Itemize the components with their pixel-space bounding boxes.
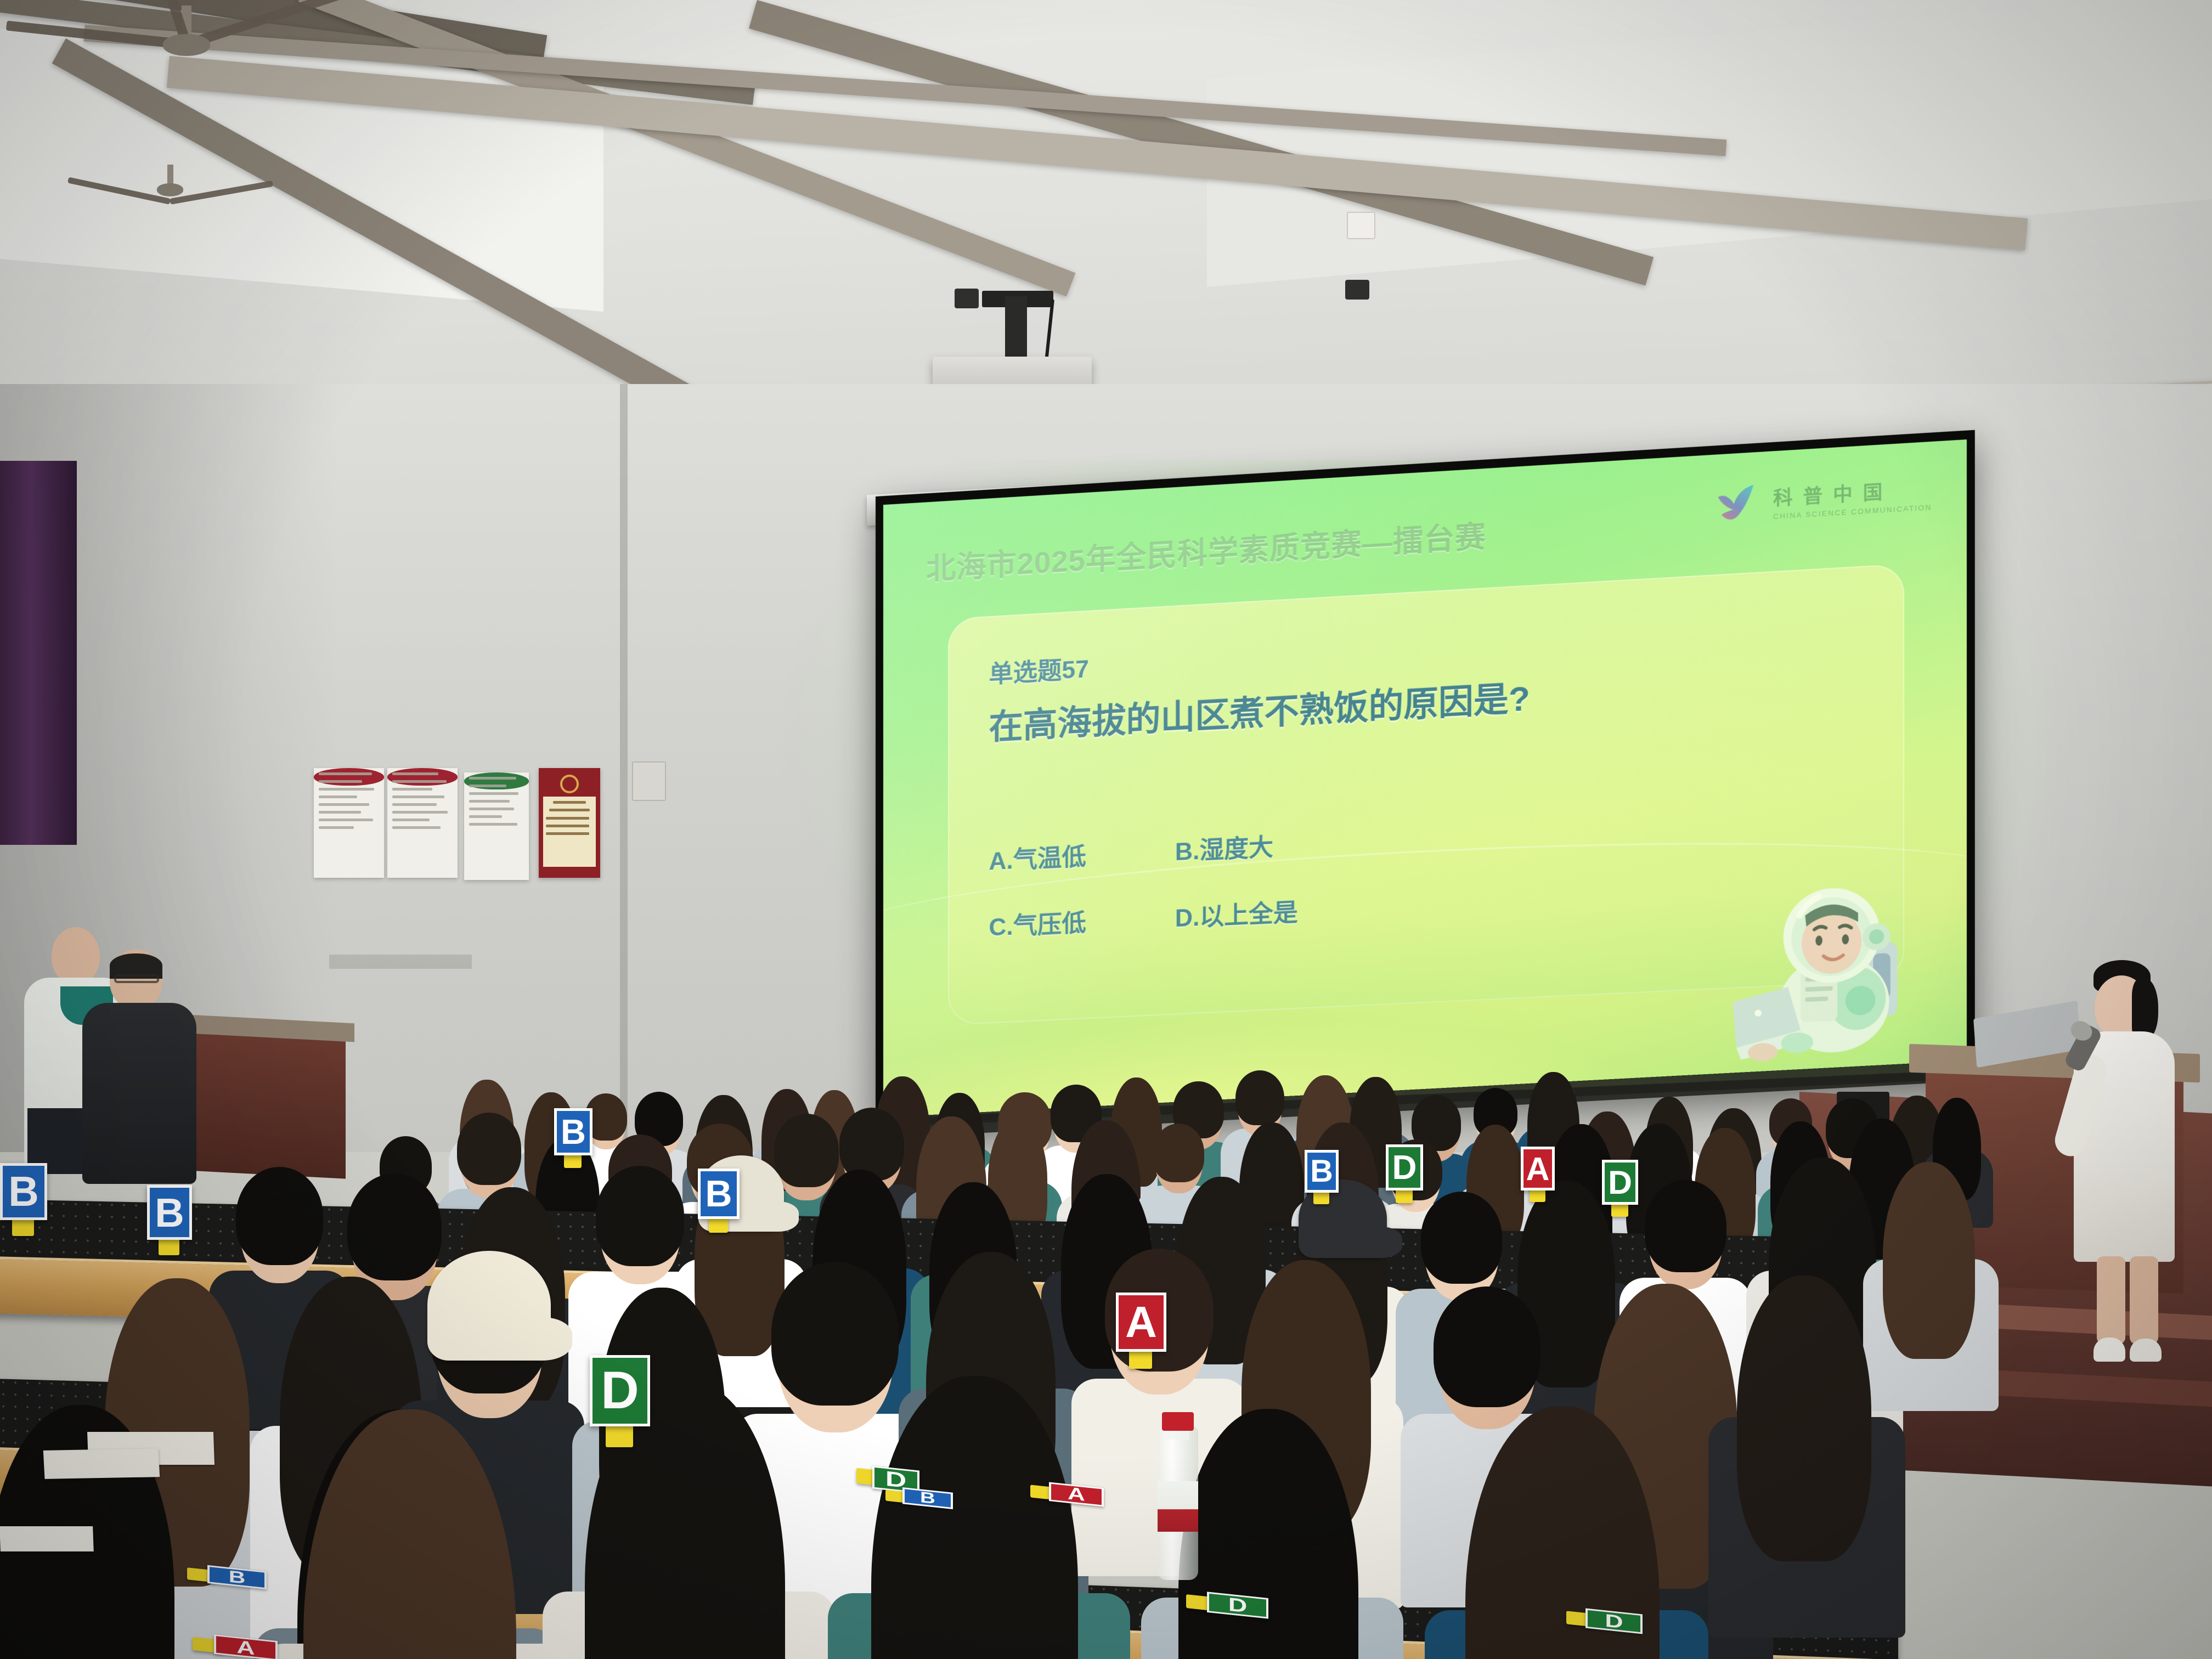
staff-person xyxy=(82,949,198,1180)
paper-sheet xyxy=(0,1526,94,1551)
kepu-bird-icon xyxy=(1716,483,1765,524)
host-shoe xyxy=(2093,1338,2125,1362)
host-shoe xyxy=(2130,1339,2162,1362)
person-hair xyxy=(771,1262,899,1406)
option-a: A.气温低 xyxy=(989,833,1155,877)
audience-member xyxy=(296,1426,532,1659)
answer-card-a[interactable]: A xyxy=(1116,1293,1166,1352)
poster-header xyxy=(314,768,384,786)
host-presenter xyxy=(2063,960,2183,1377)
host-leg xyxy=(2097,1256,2125,1344)
audience-member xyxy=(865,1392,1093,1659)
water-bottle-label xyxy=(1158,1481,1198,1532)
person-hair xyxy=(1421,1192,1503,1284)
wall-seam xyxy=(620,384,628,1152)
person-hair xyxy=(1178,1409,1358,1659)
stage-curtain xyxy=(0,461,77,845)
cap-brim xyxy=(1349,1227,1402,1257)
ceiling-sensor-icon xyxy=(1345,280,1369,300)
answer-card-b[interactable]: B xyxy=(554,1108,592,1155)
fan-hub xyxy=(157,183,183,196)
answer-card-d[interactable]: D xyxy=(590,1355,650,1426)
answer-card-d[interactable]: D xyxy=(1602,1160,1638,1205)
person-hair xyxy=(1737,1276,1871,1562)
emblem-icon xyxy=(560,775,579,793)
answer-card-d[interactable]: D xyxy=(1386,1144,1423,1190)
answer-card-b[interactable]: B xyxy=(147,1185,192,1240)
person-torso xyxy=(82,1003,196,1184)
audience-member xyxy=(1173,1423,1372,1659)
ceiling-socket-plate xyxy=(1347,212,1375,239)
ceiling-fan xyxy=(115,165,225,203)
wall-sign xyxy=(329,955,472,969)
fan-rod xyxy=(167,165,173,184)
answer-card-handle[interactable] xyxy=(606,1423,634,1447)
person-hair xyxy=(596,1166,684,1266)
ceiling-sensor-icon xyxy=(955,289,979,308)
brand-logo: 科普中国 CHINA SCIENCE COMMUNICATION xyxy=(1716,473,1932,524)
answer-card-b[interactable]: B xyxy=(0,1163,47,1220)
lecture-hall-photo: 北海市2025年全民科学素质竞赛—擂台赛 科普中国 CHINA SCIENCE … xyxy=(0,0,2212,1659)
answer-card-a[interactable]: A xyxy=(1521,1147,1555,1190)
person-hair xyxy=(871,1376,1077,1659)
wall-poster xyxy=(464,772,529,880)
poster-header xyxy=(387,768,458,786)
wall-poster xyxy=(387,768,458,878)
person-hair xyxy=(1153,1124,1205,1182)
person-hair xyxy=(1434,1286,1541,1407)
slide-header-title: 北海市2025年全民科学素质竞赛—擂台赛 xyxy=(926,512,1486,589)
answer-card-b[interactable]: B xyxy=(698,1169,740,1219)
ceiling-fan xyxy=(93,5,280,71)
paper-sheet xyxy=(43,1448,160,1479)
cap-brim xyxy=(747,1201,799,1232)
person-hair xyxy=(1645,1180,1726,1272)
brand-logo-text: 科普中国 CHINA SCIENCE COMMUNICATION xyxy=(1773,473,1932,521)
person-hair xyxy=(1883,1162,1976,1359)
plaque-inner xyxy=(543,797,596,867)
person-hair xyxy=(303,1409,516,1659)
audience-member xyxy=(1880,1169,1982,1374)
wall-plaque xyxy=(539,768,600,878)
cap-brim xyxy=(498,1317,572,1361)
projection-screen: 北海市2025年全民科学素质竞赛—擂台赛 科普中国 CHINA SCIENCE … xyxy=(876,430,1975,1127)
host-hair xyxy=(2132,979,2158,1039)
audience-member xyxy=(1733,1286,1882,1584)
person-hair xyxy=(236,1167,323,1265)
person-hair xyxy=(347,1173,442,1280)
glasses-icon xyxy=(114,974,159,983)
wall-control-box xyxy=(632,761,666,801)
water-bottle-cap xyxy=(1162,1412,1194,1431)
astronaut-mascot-icon xyxy=(1733,872,1940,1067)
person-hair xyxy=(457,1113,521,1185)
fan-hub xyxy=(163,34,210,56)
host-leg xyxy=(2130,1256,2158,1344)
answer-card-b[interactable]: B xyxy=(1305,1150,1339,1193)
person-hair xyxy=(839,1108,904,1181)
projector-mount-pole xyxy=(1005,296,1027,362)
question-number: 单选题57 xyxy=(989,649,1088,690)
wall-poster xyxy=(314,768,384,878)
person-hair xyxy=(1235,1070,1284,1125)
slide-surface: 北海市2025年全民科学素质竞赛—擂台赛 科普中国 CHINA SCIENCE … xyxy=(883,439,1967,1118)
